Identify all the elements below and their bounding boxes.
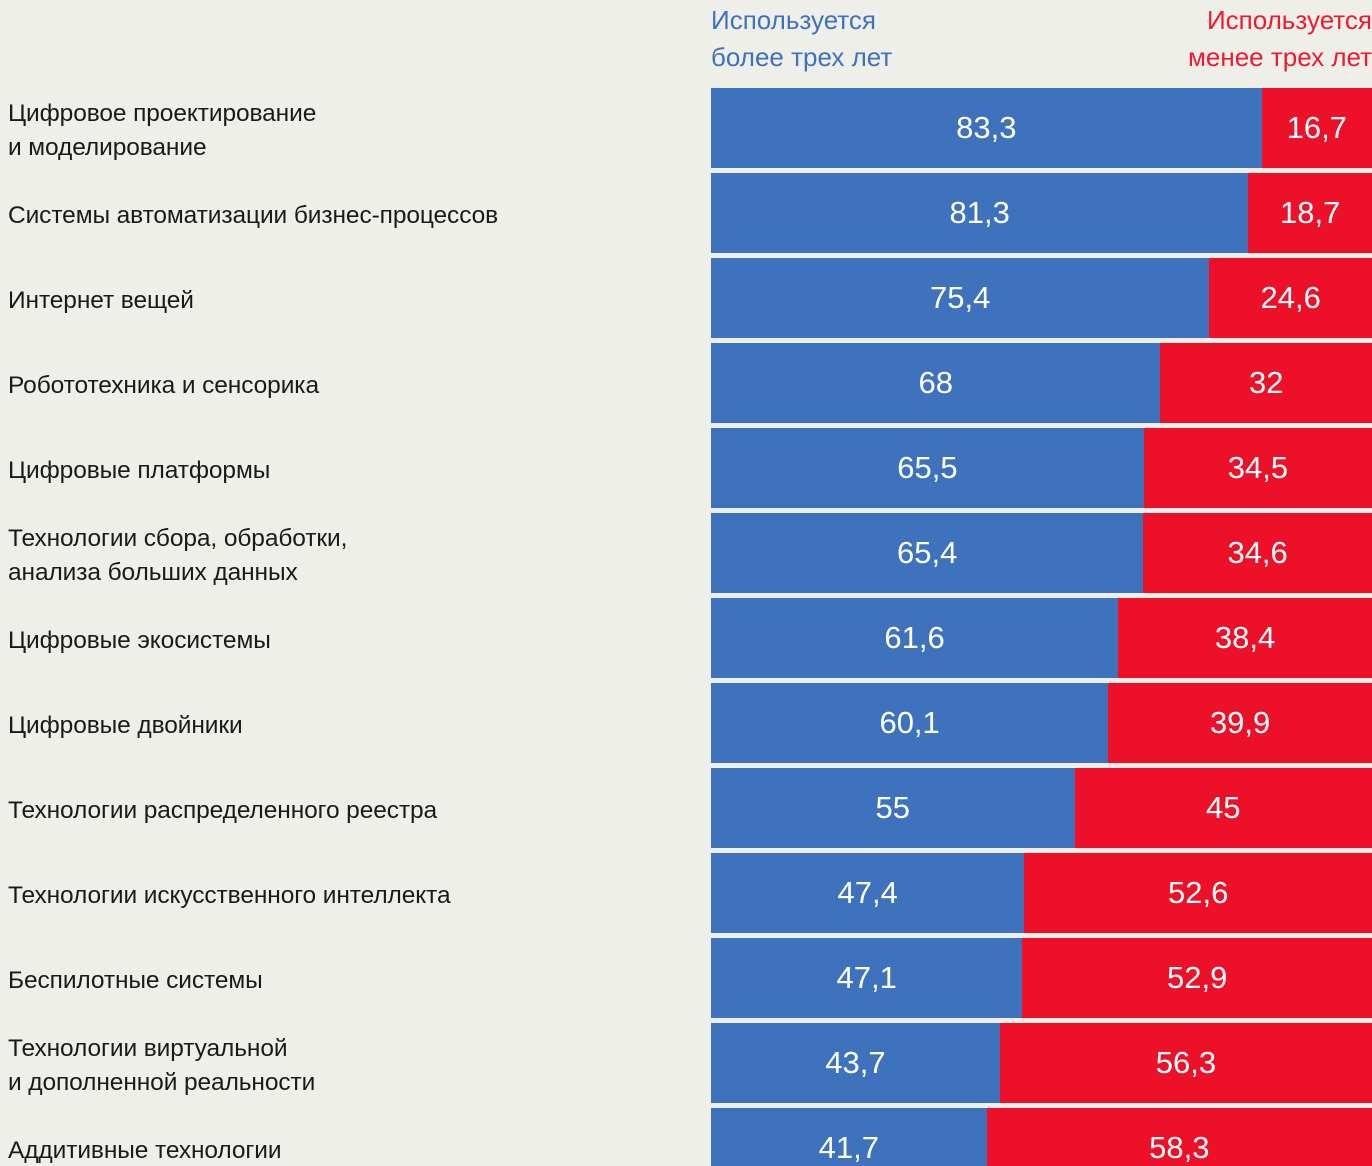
bar-segment-more-than-three-years: 41,7 bbox=[711, 1108, 987, 1166]
bar-segment-more-than-three-years: 81,3 bbox=[711, 173, 1248, 253]
bar-segment-more-than-three-years: 83,3 bbox=[711, 88, 1262, 168]
bar-segment-more-than-three-years: 55 bbox=[711, 768, 1075, 848]
stacked-bar: 81,318,7 bbox=[711, 173, 1372, 253]
stacked-bar: 5545 bbox=[711, 768, 1372, 848]
stacked-bar: 83,316,7 bbox=[711, 88, 1372, 168]
category-label: Цифровые экосистемы bbox=[8, 598, 698, 683]
chart-legend: Используется более трех лет Используется… bbox=[0, 0, 1372, 88]
stacked-bar: 41,758,3 bbox=[711, 1108, 1372, 1166]
bar-segment-less-than-three-years: 32 bbox=[1160, 343, 1372, 423]
chart-row: Цифровые двойники60,139,9 bbox=[0, 683, 1372, 768]
bar-segment-less-than-three-years: 45 bbox=[1075, 768, 1372, 848]
category-label: Системы автоматизации бизнес-процессов bbox=[8, 173, 698, 258]
category-label: Интернет вещей bbox=[8, 258, 698, 343]
bar-segment-less-than-three-years: 38,4 bbox=[1118, 598, 1372, 678]
stacked-bar: 75,424,6 bbox=[711, 258, 1372, 338]
stacked-bar: 65,434,6 bbox=[711, 513, 1372, 593]
bar-segment-more-than-three-years: 65,5 bbox=[711, 428, 1144, 508]
category-label: Цифровые двойники bbox=[8, 683, 698, 768]
bar-segment-more-than-three-years: 47,4 bbox=[711, 853, 1024, 933]
category-label: Аддитивные технологии bbox=[8, 1108, 698, 1166]
chart-row: Интернет вещей75,424,6 bbox=[0, 258, 1372, 343]
chart-row: Цифровое проектирование и моделирование8… bbox=[0, 88, 1372, 173]
stacked-bar: 47,152,9 bbox=[711, 938, 1372, 1018]
bar-segment-more-than-three-years: 61,6 bbox=[711, 598, 1118, 678]
bar-segment-more-than-three-years: 75,4 bbox=[711, 258, 1209, 338]
category-label: Технологии распределенного реестра bbox=[8, 768, 698, 853]
bar-segment-more-than-three-years: 43,7 bbox=[711, 1023, 1000, 1103]
chart-row: Цифровые экосистемы61,638,4 bbox=[0, 598, 1372, 683]
bar-segment-less-than-three-years: 39,9 bbox=[1108, 683, 1372, 763]
stacked-bar: 65,534,5 bbox=[711, 428, 1372, 508]
stacked-bar: 61,638,4 bbox=[711, 598, 1372, 678]
bar-segment-less-than-three-years: 24,6 bbox=[1209, 258, 1372, 338]
stacked-bar: 60,139,9 bbox=[711, 683, 1372, 763]
category-label: Беспилотные системы bbox=[8, 938, 698, 1023]
category-label: Технологии сбора, обработки, анализа бол… bbox=[8, 513, 698, 598]
chart-row: Технологии искусственного интеллекта47,4… bbox=[0, 853, 1372, 938]
chart-row: Технологии сбора, обработки, анализа бол… bbox=[0, 513, 1372, 598]
chart-row: Системы автоматизации бизнес-процессов81… bbox=[0, 173, 1372, 258]
bar-segment-more-than-three-years: 68 bbox=[711, 343, 1160, 423]
chart-row: Цифровые платформы65,534,5 bbox=[0, 428, 1372, 513]
bar-segment-less-than-three-years: 34,5 bbox=[1144, 428, 1372, 508]
bar-segment-less-than-three-years: 52,6 bbox=[1024, 853, 1372, 933]
legend-item-less-than-three-years: Используется менее трех лет bbox=[972, 2, 1372, 76]
chart-row: Аддитивные технологии41,758,3 bbox=[0, 1108, 1372, 1166]
bar-segment-less-than-three-years: 16,7 bbox=[1262, 88, 1372, 168]
bar-segment-less-than-three-years: 58,3 bbox=[987, 1108, 1372, 1166]
bar-segment-less-than-three-years: 34,6 bbox=[1143, 513, 1372, 593]
category-label: Робототехника и сенсорика bbox=[8, 343, 698, 428]
stacked-bar-chart: Используется более трех лет Используется… bbox=[0, 0, 1372, 1166]
chart-row: Робототехника и сенсорика6832 bbox=[0, 343, 1372, 428]
bar-segment-more-than-three-years: 47,1 bbox=[711, 938, 1022, 1018]
bar-segment-less-than-three-years: 18,7 bbox=[1248, 173, 1372, 253]
chart-row: Беспилотные системы47,152,9 bbox=[0, 938, 1372, 1023]
bar-segment-more-than-three-years: 60,1 bbox=[711, 683, 1108, 763]
category-label: Цифровые платформы bbox=[8, 428, 698, 513]
category-label: Технологии искусственного интеллекта bbox=[8, 853, 698, 938]
category-label: Технологии виртуальной и дополненной реа… bbox=[8, 1023, 698, 1108]
chart-row: Технологии распределенного реестра5545 bbox=[0, 768, 1372, 853]
stacked-bar: 43,756,3 bbox=[711, 1023, 1372, 1103]
chart-rows: Цифровое проектирование и моделирование8… bbox=[0, 88, 1372, 1166]
bar-segment-more-than-three-years: 65,4 bbox=[711, 513, 1143, 593]
bar-segment-less-than-three-years: 52,9 bbox=[1022, 938, 1372, 1018]
chart-row: Технологии виртуальной и дополненной реа… bbox=[0, 1023, 1372, 1108]
category-label: Цифровое проектирование и моделирование bbox=[8, 88, 698, 173]
stacked-bar: 6832 bbox=[711, 343, 1372, 423]
stacked-bar: 47,452,6 bbox=[711, 853, 1372, 933]
bar-segment-less-than-three-years: 56,3 bbox=[1000, 1023, 1372, 1103]
